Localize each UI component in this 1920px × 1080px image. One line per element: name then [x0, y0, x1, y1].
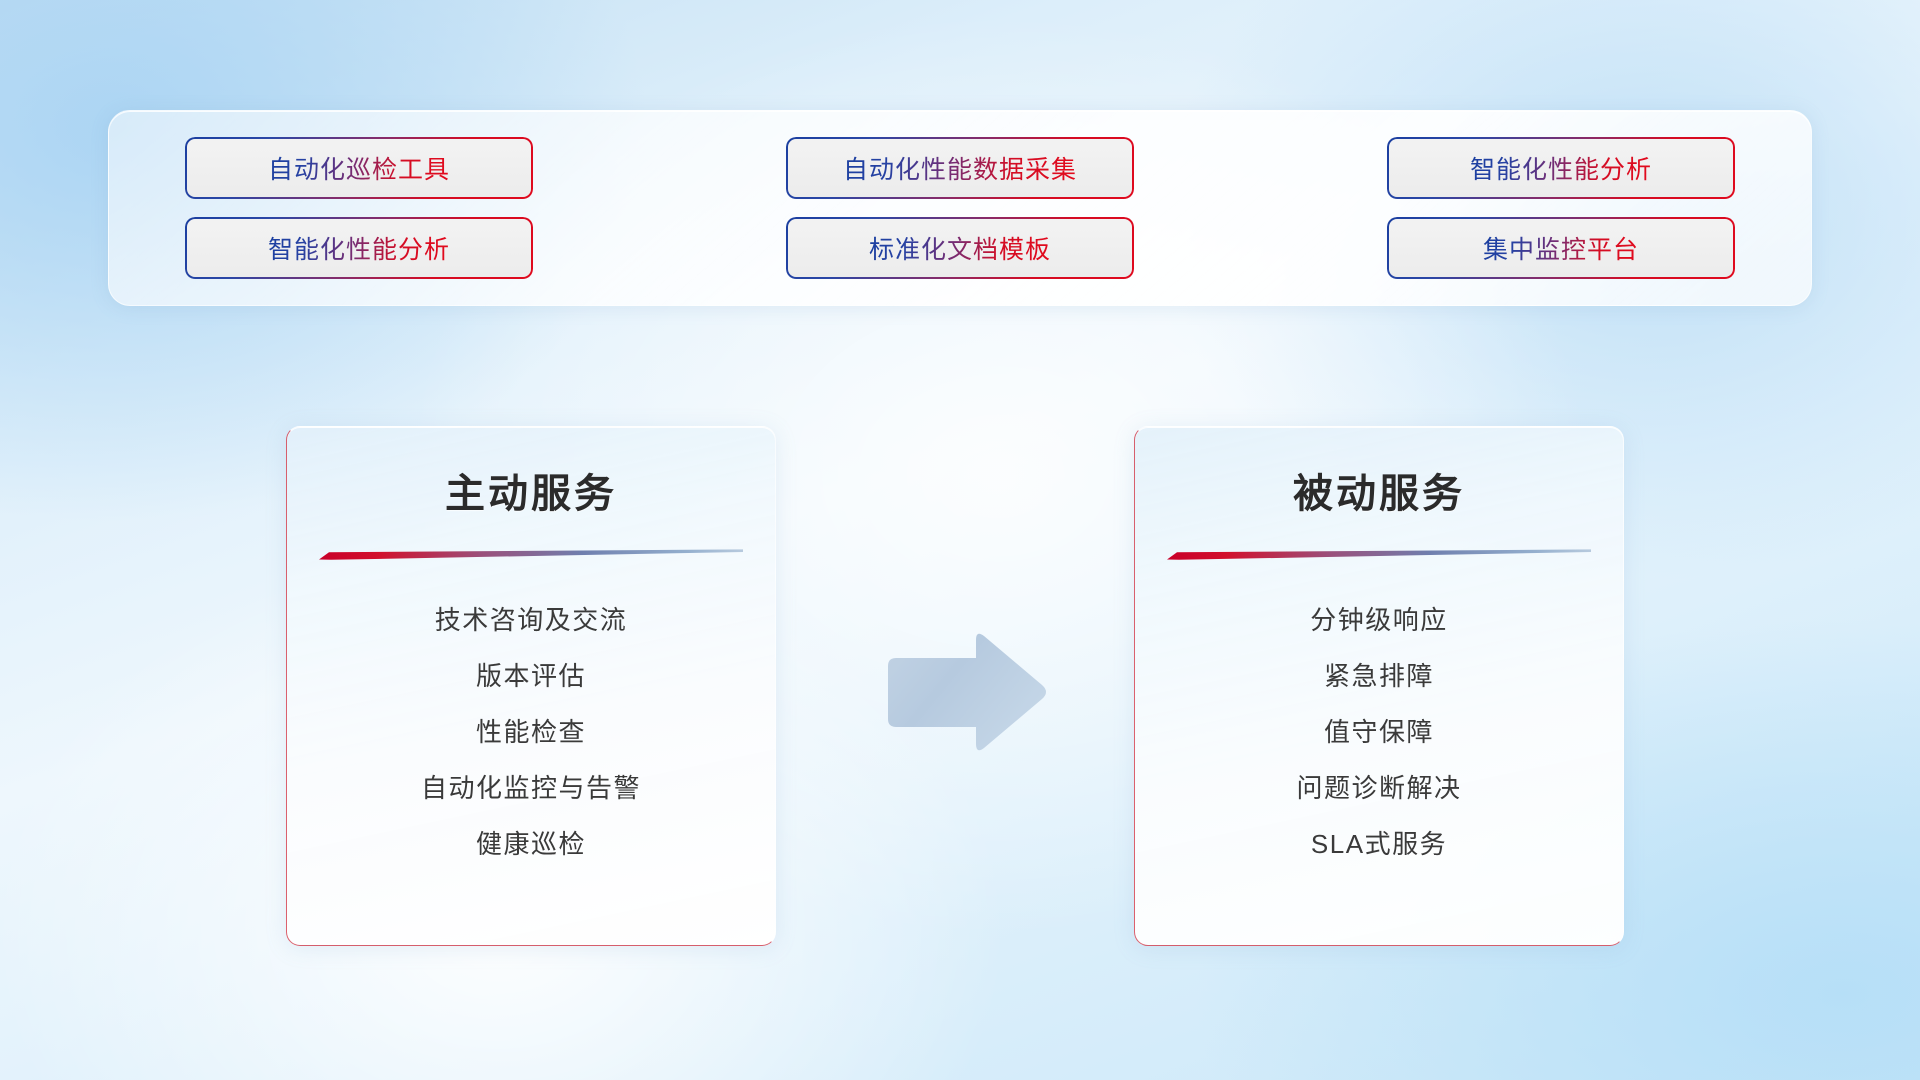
list-item: 值守保障	[1135, 704, 1623, 760]
capability-pill-label: 自动化巡检工具	[268, 150, 450, 186]
title-divider	[1167, 549, 1591, 560]
capability-pill-label: 智能化性能分析	[268, 230, 450, 266]
capability-row-2: 智能化性能分析 标准化文档模板 集中监控平台	[185, 217, 1735, 279]
list-item: 性能检查	[287, 704, 775, 760]
capability-pill-label: 标准化文档模板	[869, 230, 1051, 266]
capability-pill[interactable]: 智能化性能分析	[1387, 137, 1735, 199]
capability-pill[interactable]: 自动化巡检工具	[185, 137, 533, 199]
arrow-right-icon	[880, 628, 1050, 758]
service-card-proactive: 主动服务 技术咨询及交流 版本评估 性能检查	[286, 426, 776, 946]
card-title: 被动服务	[1135, 461, 1623, 519]
list-item: 健康巡检	[287, 816, 775, 872]
capability-pill-label: 集中监控平台	[1483, 230, 1639, 266]
capability-pill[interactable]: 自动化性能数据采集	[786, 137, 1134, 199]
list-item: 技术咨询及交流	[287, 592, 775, 648]
capability-pill[interactable]: 智能化性能分析	[185, 217, 533, 279]
service-card-reactive: 被动服务 分钟级响应 紧急排障 值守保障	[1134, 426, 1624, 946]
list-item: 问题诊断解决	[1135, 760, 1623, 816]
list-item: 自动化监控与告警	[287, 760, 775, 816]
service-list: 分钟级响应 紧急排障 值守保障 问题诊断解决 SLA式服务	[1135, 592, 1623, 872]
slide-canvas: 自动化巡检工具 自动化性能数据采集 智能化性能分析 智能化性能分析 标准化文档模…	[0, 0, 1920, 1080]
title-divider	[319, 549, 743, 560]
service-list: 技术咨询及交流 版本评估 性能检查 自动化监控与告警 健康巡检	[287, 592, 775, 872]
card-title: 主动服务	[287, 461, 775, 519]
capabilities-panel: 自动化巡检工具 自动化性能数据采集 智能化性能分析 智能化性能分析 标准化文档模…	[108, 110, 1812, 306]
list-item: SLA式服务	[1135, 816, 1623, 872]
capability-row-1: 自动化巡检工具 自动化性能数据采集 智能化性能分析	[185, 137, 1735, 199]
list-item: 分钟级响应	[1135, 592, 1623, 648]
list-item: 紧急排障	[1135, 648, 1623, 704]
list-item: 版本评估	[287, 648, 775, 704]
capability-pill[interactable]: 集中监控平台	[1387, 217, 1735, 279]
capability-pill-label: 智能化性能分析	[1470, 150, 1652, 186]
capability-pill[interactable]: 标准化文档模板	[786, 217, 1134, 279]
capability-pill-label: 自动化性能数据采集	[843, 150, 1077, 186]
